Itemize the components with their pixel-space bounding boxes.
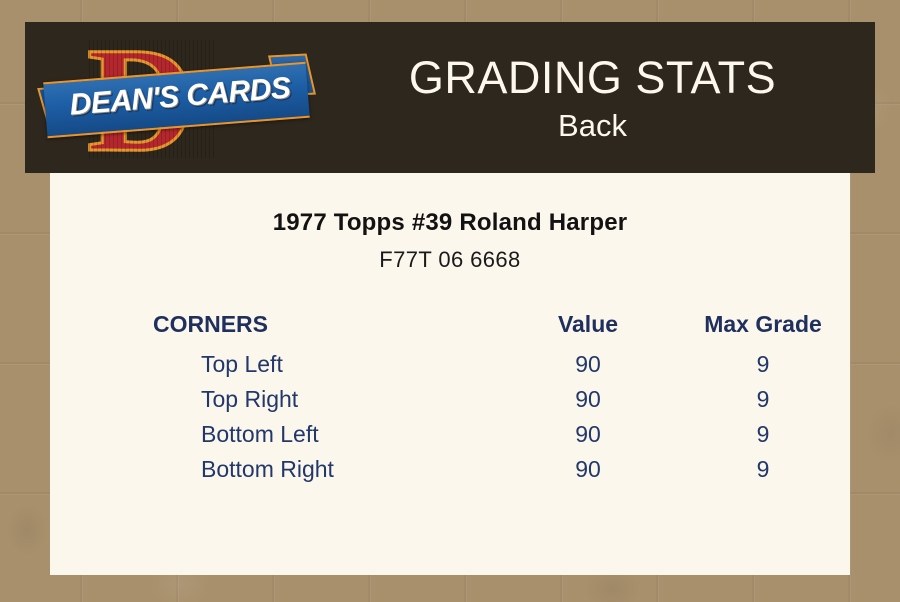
row-max-grade: 9 [673, 347, 853, 382]
card-title: 1977 Topps #39 Roland Harper [50, 173, 850, 237]
row-max-grade: 9 [673, 417, 853, 452]
row-value: 90 [503, 347, 673, 382]
page-root: D DEAN'S CARDS GRADING STATS Back 1977 T… [0, 0, 900, 602]
header-title-group: GRADING STATS Back [310, 22, 875, 173]
table-row: Top Left 90 9 [151, 347, 853, 382]
row-max-grade: 9 [673, 452, 853, 487]
deans-cards-logo[interactable]: D DEAN'S CARDS [45, 28, 310, 168]
page-subtitle: Back [558, 107, 627, 146]
header-bar: D DEAN'S CARDS GRADING STATS Back [25, 22, 875, 173]
row-value: 90 [503, 417, 673, 452]
stats-table-head: CORNERS Value Max Grade [151, 311, 853, 347]
table-row: Top Right 90 9 [151, 382, 853, 417]
table-row: Bottom Left 90 9 [151, 417, 853, 452]
row-value: 90 [503, 452, 673, 487]
row-label: Bottom Right [151, 452, 503, 487]
row-label: Top Left [151, 347, 503, 382]
stats-table-body: Top Left 90 9 Top Right 90 9 Bottom Left… [151, 347, 853, 487]
table-header-row: CORNERS Value Max Grade [151, 311, 853, 347]
table-row: Bottom Right 90 9 [151, 452, 853, 487]
content-panel: 1977 Topps #39 Roland Harper F77T 06 666… [50, 173, 850, 575]
row-value: 90 [503, 382, 673, 417]
column-header-corners: CORNERS [151, 311, 503, 347]
row-max-grade: 9 [673, 382, 853, 417]
row-label: Bottom Left [151, 417, 503, 452]
card-id: F77T 06 6668 [50, 237, 850, 273]
grading-stats-table: CORNERS Value Max Grade Top Left 90 9 To… [151, 311, 853, 487]
column-header-value: Value [503, 311, 673, 347]
page-title: GRADING STATS [409, 54, 776, 101]
column-header-max-grade: Max Grade [673, 311, 853, 347]
row-label: Top Right [151, 382, 503, 417]
